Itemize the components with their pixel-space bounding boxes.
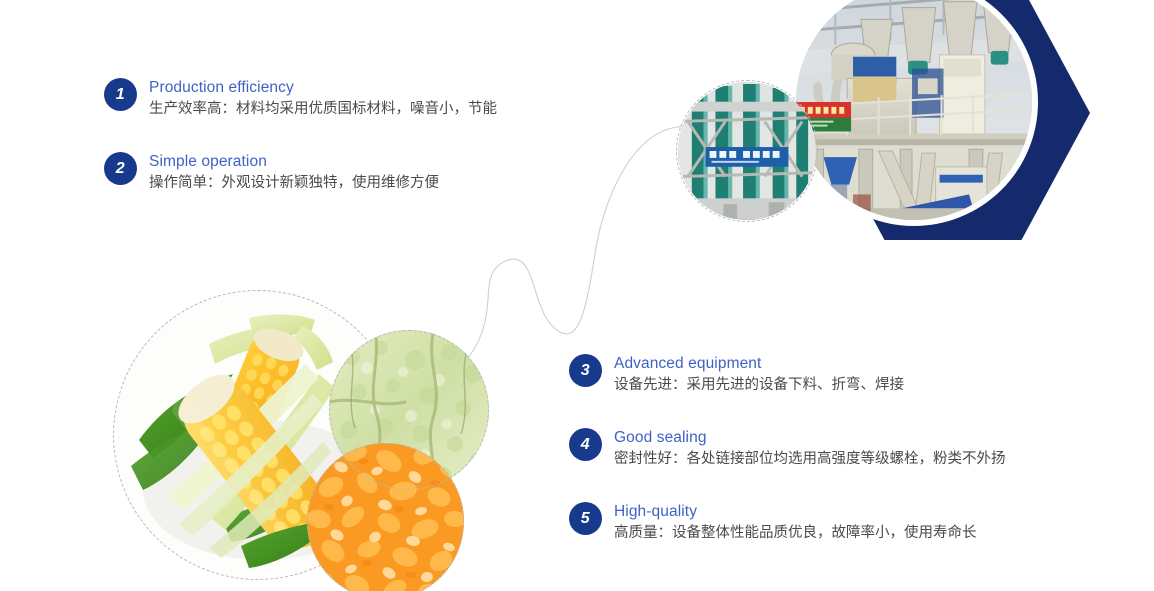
feature-desc-2: 操作简单：外观设计新颖独特，使用维修方便 [149,172,439,194]
feature-text-2: Simple operation 操作简单：外观设计新颖独特，使用维修方便 [149,152,439,194]
grain-processing-tower-photo [678,82,816,220]
feature-item-4[interactable]: 4 Good sealing 密封性好：各处链接部位均选用高强度等级螺栓，粉类不… [569,428,1006,470]
feature-desc-4: 密封性好：各处链接部位均选用高强度等级螺栓，粉类不外扬 [614,448,1006,470]
feature-badge-3: 3 [569,354,602,387]
feature-title-4: Good sealing [614,428,1006,447]
flour-mill-plant-photo [790,0,1038,226]
infographic-canvas: 1 Production efficiency 生产效率高：材料均采用优质国标材… [0,0,1154,591]
feature-text-3: Advanced equipment 设备先进：采用先进的设备下料、折弯、焊接 [614,354,904,396]
orange-corn-grits-photo [307,443,464,591]
corn-photo-group [85,280,505,591]
feature-item-3[interactable]: 3 Advanced equipment 设备先进：采用先进的设备下料、折弯、焊… [569,354,904,396]
feature-item-5[interactable]: 5 High-quality 高质量：设备整体性能品质优良，故障率小，使用寿命长 [569,502,977,544]
feature-text-5: High-quality 高质量：设备整体性能品质优良，故障率小，使用寿命长 [614,502,977,544]
feature-badge-2: 2 [104,152,137,185]
feature-title-1: Production efficiency [149,78,497,97]
feature-item-1[interactable]: 1 Production efficiency 生产效率高：材料均采用优质国标材… [104,78,497,120]
feature-desc-3: 设备先进：采用先进的设备下料、折弯、焊接 [614,374,904,396]
feature-text-1: Production efficiency 生产效率高：材料均采用优质国标材料，… [149,78,497,120]
feature-badge-5: 5 [569,502,602,535]
feature-desc-1: 生产效率高：材料均采用优质国标材料，噪音小，节能 [149,98,497,120]
feature-desc-5: 高质量：设备整体性能品质优良，故障率小，使用寿命长 [614,522,977,544]
feature-title-5: High-quality [614,502,977,521]
feature-title-3: Advanced equipment [614,354,904,373]
feature-badge-1: 1 [104,78,137,111]
feature-title-2: Simple operation [149,152,439,171]
feature-item-2[interactable]: 2 Simple operation 操作简单：外观设计新颖独特，使用维修方便 [104,152,439,194]
feature-text-4: Good sealing 密封性好：各处链接部位均选用高强度等级螺栓，粉类不外扬 [614,428,1006,470]
hexagon-photo-group [790,0,1154,278]
feature-badge-4: 4 [569,428,602,461]
